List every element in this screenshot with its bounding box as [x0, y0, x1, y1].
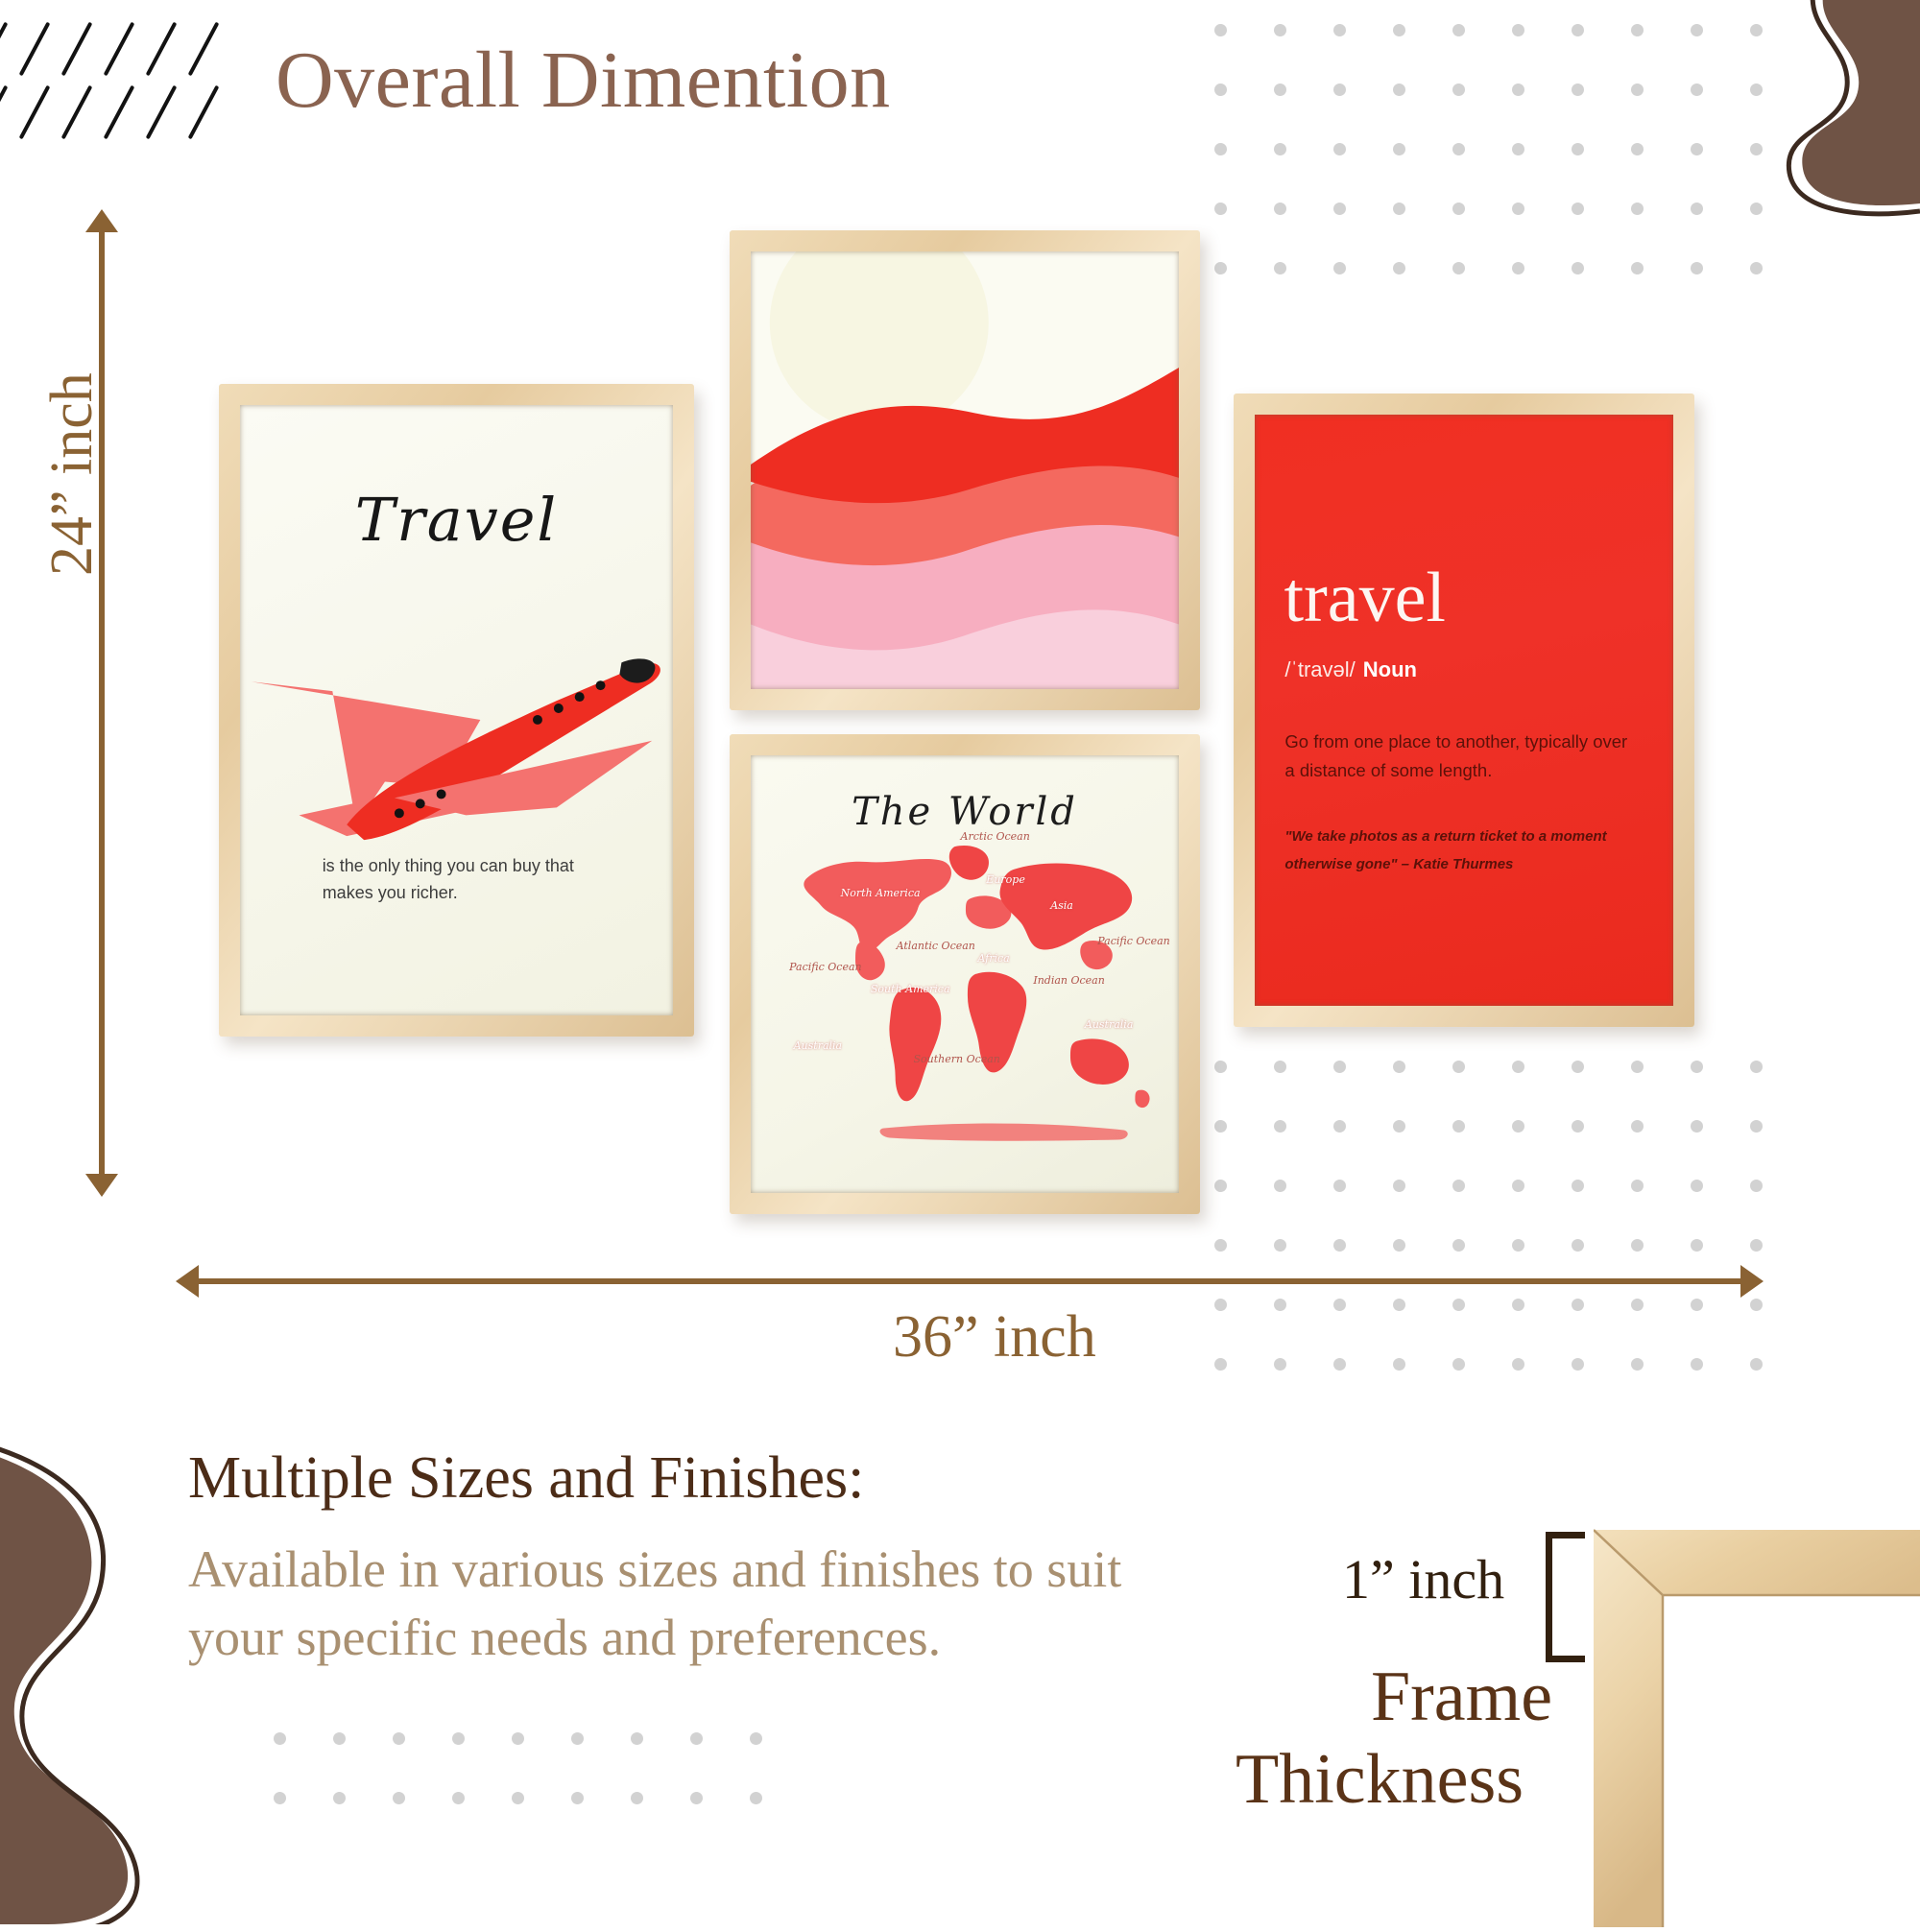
- frame-corner-sample: [1594, 1524, 1920, 1927]
- decorative-dot: [690, 1732, 703, 1745]
- decorative-dot: [1214, 1239, 1227, 1252]
- decorative-dot: [1214, 1061, 1227, 1073]
- decorative-dot: [1512, 1120, 1524, 1133]
- decorative-dot: [1512, 1239, 1524, 1252]
- frame-travel-definition[interactable]: travel /ˈtravəl/Noun Go from one place t…: [1234, 394, 1694, 1027]
- frame-mat-border: [751, 251, 1179, 689]
- decorative-dot: [1274, 262, 1286, 274]
- decorative-dot: [631, 1792, 643, 1804]
- decorative-dot: [1572, 1120, 1584, 1133]
- hatch-line: [61, 85, 93, 140]
- decorative-dot: [1393, 143, 1405, 155]
- decorative-dot: [1572, 1239, 1584, 1252]
- decorative-dot: [1512, 1180, 1524, 1192]
- decorative-dot: [1572, 143, 1584, 155]
- bottom-body-text: Available in various sizes and finishes …: [188, 1536, 1235, 1673]
- infographic-root: Overall Dimention 24” inch 36” inch Trav…: [0, 0, 1920, 1920]
- decorative-dot: [1333, 83, 1346, 96]
- decorative-dot: [571, 1792, 584, 1804]
- decorative-dot: [1274, 1180, 1286, 1192]
- decorative-dot: [1452, 1299, 1465, 1311]
- decorative-dot: [1572, 1358, 1584, 1371]
- decorative-dot: [1750, 262, 1763, 274]
- decorative-dot: [1274, 83, 1286, 96]
- decorative-dot: [1274, 1239, 1286, 1252]
- decorative-dot: [1393, 1239, 1405, 1252]
- decorative-dot: [393, 1732, 405, 1745]
- decorative-dot: [1214, 203, 1227, 215]
- hatch-line: [188, 85, 220, 140]
- width-dimension-arrow: [197, 1278, 1742, 1284]
- decorative-dot: [512, 1792, 524, 1804]
- thickness-measure-label: 1” inch: [1342, 1547, 1504, 1611]
- decorative-dot: [690, 1792, 703, 1804]
- decorative-dot: [1214, 83, 1227, 96]
- decorative-dot: [1512, 1358, 1524, 1371]
- decorative-dot: [1333, 143, 1346, 155]
- decorative-dot: [1572, 1061, 1584, 1073]
- decorative-dot: [1452, 143, 1465, 155]
- decorative-dot: [1691, 262, 1703, 274]
- hatch-line: [146, 22, 178, 77]
- decorative-dot: [750, 1732, 762, 1745]
- bottom-heading: Multiple Sizes and Finishes:: [188, 1444, 864, 1513]
- hatch-line: [146, 85, 178, 140]
- decorative-dot: [1214, 262, 1227, 274]
- decorative-dot: [1750, 1120, 1763, 1133]
- decorative-dot: [1274, 1061, 1286, 1073]
- decorative-dot: [1572, 1299, 1584, 1311]
- decorative-dot: [1512, 203, 1524, 215]
- decorative-dot: [1274, 1299, 1286, 1311]
- decorative-dot: [1333, 24, 1346, 36]
- frame-mat-border: [751, 755, 1179, 1193]
- decorative-dot: [1512, 83, 1524, 96]
- decorative-dot: [631, 1732, 643, 1745]
- decorative-dot: [1631, 83, 1644, 96]
- arrow-head-down: [85, 1174, 118, 1197]
- decorative-dot: [1393, 1180, 1405, 1192]
- decorative-dot: [1750, 1239, 1763, 1252]
- frame-mat-border: [1255, 415, 1673, 1006]
- decorative-dot: [1274, 24, 1286, 36]
- decorative-dot: [1631, 1239, 1644, 1252]
- blob-top-right: [1670, 0, 1920, 230]
- hatch-line: [61, 22, 93, 77]
- hatch-line: [19, 85, 51, 140]
- decorative-dot: [1452, 1358, 1465, 1371]
- decorative-dot: [1512, 1061, 1524, 1073]
- decorative-dot: [1274, 143, 1286, 155]
- decorative-dot: [1452, 203, 1465, 215]
- dot-grid-right: [1214, 1061, 1848, 1435]
- decorative-dot: [333, 1732, 346, 1745]
- decorative-dot: [1631, 1120, 1644, 1133]
- decorative-dot: [1274, 1120, 1286, 1133]
- decorative-dot: [1452, 1239, 1465, 1252]
- decorative-dot: [1452, 1180, 1465, 1192]
- decorative-dot: [1452, 83, 1465, 96]
- decorative-dot: [1214, 24, 1227, 36]
- decorative-dot: [750, 1792, 762, 1804]
- decorative-dot: [1691, 1120, 1703, 1133]
- thickness-line1: Frame: [1371, 1657, 1552, 1738]
- decorative-dot: [1393, 262, 1405, 274]
- decorative-dot: [1214, 1299, 1227, 1311]
- decorative-dot: [1333, 203, 1346, 215]
- decorative-dot: [1214, 1180, 1227, 1192]
- decorative-dot: [1631, 143, 1644, 155]
- decorative-dot: [1393, 1299, 1405, 1311]
- dot-grid-bottom-left: [274, 1732, 821, 1896]
- decorative-dot: [333, 1792, 346, 1804]
- decorative-dot: [1512, 262, 1524, 274]
- decorative-dot: [1452, 262, 1465, 274]
- decorative-dot: [1333, 1239, 1346, 1252]
- decorative-dot: [1274, 1358, 1286, 1371]
- decorative-dot: [1691, 1239, 1703, 1252]
- decorative-dot: [1393, 1358, 1405, 1371]
- decorative-dot: [1631, 1061, 1644, 1073]
- decorative-dot: [512, 1732, 524, 1745]
- arrow-head-left: [176, 1265, 199, 1298]
- decorative-dot: [1333, 1120, 1346, 1133]
- decorative-dot: [1572, 262, 1584, 274]
- decorative-dot: [1452, 24, 1465, 36]
- decorative-dot: [1214, 1358, 1227, 1371]
- decorative-dot: [1333, 1358, 1346, 1371]
- decorative-dot: [571, 1732, 584, 1745]
- decorative-dot: [1333, 1299, 1346, 1311]
- frame-travel-plane[interactable]: Travel is: [219, 384, 694, 1037]
- decorative-dot: [393, 1792, 405, 1804]
- decorative-dot: [1214, 1120, 1227, 1133]
- hatch-lines-decoration: [0, 19, 221, 154]
- decorative-dot: [1691, 1358, 1703, 1371]
- decorative-dot: [1393, 1061, 1405, 1073]
- frame-world-map[interactable]: The World: [730, 734, 1200, 1214]
- hatch-line: [188, 22, 220, 77]
- blob-bottom-left: [0, 1444, 278, 1924]
- decorative-dot: [1333, 262, 1346, 274]
- decorative-dot: [1274, 203, 1286, 215]
- arrow-head-up: [85, 209, 118, 232]
- decorative-dot: [1572, 1180, 1584, 1192]
- decorative-dot: [452, 1792, 465, 1804]
- decorative-dot: [1452, 1061, 1465, 1073]
- hatch-line: [0, 22, 8, 77]
- decorative-dot: [1512, 143, 1524, 155]
- decorative-dot: [1393, 83, 1405, 96]
- decorative-dot: [1393, 1120, 1405, 1133]
- decorative-dot: [1393, 203, 1405, 215]
- frame-abstract-waves[interactable]: [730, 230, 1200, 710]
- decorative-dot: [1333, 1061, 1346, 1073]
- decorative-dot: [1333, 1180, 1346, 1192]
- hatch-line: [104, 22, 135, 77]
- decorative-dot: [1631, 203, 1644, 215]
- decorative-dot: [1750, 1180, 1763, 1192]
- decorative-dot: [452, 1732, 465, 1745]
- decorative-dot: [1691, 1061, 1703, 1073]
- decorative-dot: [1691, 1180, 1703, 1192]
- decorative-dot: [1750, 1061, 1763, 1073]
- frame-mat-border: [240, 405, 673, 1015]
- decorative-dot: [1452, 1120, 1465, 1133]
- thickness-line2: Thickness: [1236, 1739, 1524, 1821]
- hatch-line: [104, 85, 135, 140]
- arrow-head-right: [1740, 1265, 1764, 1298]
- decorative-dot: [1572, 24, 1584, 36]
- width-dimension-label: 36” inch: [893, 1303, 1096, 1371]
- decorative-dot: [1631, 24, 1644, 36]
- decorative-dot: [1214, 143, 1227, 155]
- page-title: Overall Dimention: [276, 40, 891, 121]
- decorative-dot: [1512, 24, 1524, 36]
- decorative-dot: [1691, 1299, 1703, 1311]
- decorative-dot: [1750, 1358, 1763, 1371]
- hatch-line: [0, 85, 8, 140]
- decorative-dot: [1572, 83, 1584, 96]
- hatch-line: [19, 22, 51, 77]
- height-dimension-label: 24” inch: [38, 372, 107, 576]
- decorative-dot: [1572, 203, 1584, 215]
- decorative-dot: [1512, 1299, 1524, 1311]
- decorative-dot: [1631, 1180, 1644, 1192]
- thickness-bracket-icon: [1546, 1532, 1585, 1662]
- decorative-dot: [1631, 1358, 1644, 1371]
- decorative-dot: [1750, 1299, 1763, 1311]
- decorative-dot: [1393, 24, 1405, 36]
- decorative-dot: [1631, 262, 1644, 274]
- decorative-dot: [1631, 1299, 1644, 1311]
